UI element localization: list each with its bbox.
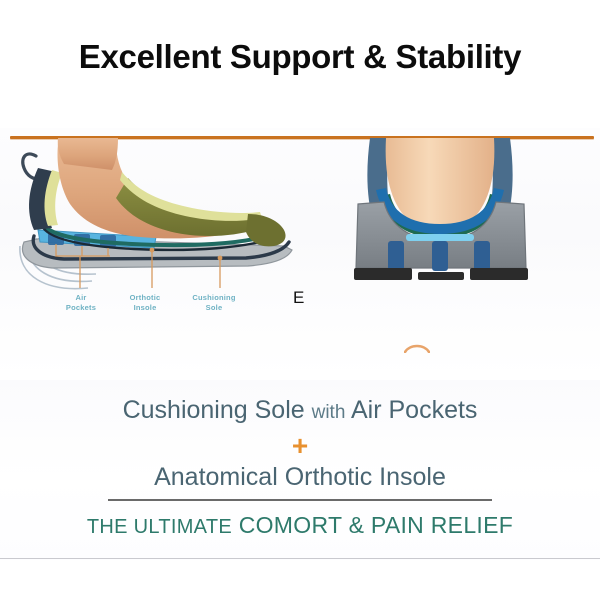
benefit-line-1: Cushioning Sole with Air Pockets	[0, 396, 600, 425]
callout-cushioning-sole: Cushioning Sole	[184, 293, 244, 312]
copy-divider	[108, 499, 492, 501]
orange-arc-fragment	[404, 340, 430, 350]
callout-orthotic-insole: Orthotic Insole	[118, 293, 172, 312]
benefit-with-word: with	[312, 402, 346, 423]
copy-block: Cushioning Sole with Air Pockets + Anato…	[0, 380, 600, 560]
callout-cushioning-line1: Cushioning	[192, 293, 235, 302]
benefit-line-2: Anatomical Orthotic Insole	[0, 463, 600, 492]
tagline: THE ULTIMATE COMORT & PAIN RELIEF	[0, 512, 600, 539]
promo-graphic: Excellent Support & Stability	[0, 0, 600, 600]
benefit-cushioning-sole: Cushioning Sole	[123, 396, 305, 424]
benefit-air-pockets: Air Pockets	[351, 396, 477, 424]
callout-orthotic-line2: Insole	[118, 303, 172, 313]
rear-view-heel-diagram	[340, 138, 560, 308]
side-view-shoe-diagram	[12, 138, 312, 318]
air-pocket-columns	[388, 241, 490, 271]
stray-letter-e: E	[293, 288, 304, 308]
air-strip	[406, 234, 474, 241]
callout-air-line2: Pockets	[56, 303, 106, 313]
bottom-divider	[0, 558, 600, 559]
tagline-prefix: THE ULTIMATE	[87, 516, 232, 538]
callout-orthotic-line1: Orthotic	[130, 293, 161, 302]
plus-icon: +	[0, 433, 600, 459]
callout-air-pockets: Air Pockets	[56, 293, 106, 312]
callout-air-line1: Air	[75, 293, 86, 302]
page-title: Excellent Support & Stability	[0, 38, 600, 76]
tagline-main: COMORT & PAIN RELIEF	[239, 512, 513, 538]
callout-cushioning-line2: Sole	[184, 303, 244, 313]
